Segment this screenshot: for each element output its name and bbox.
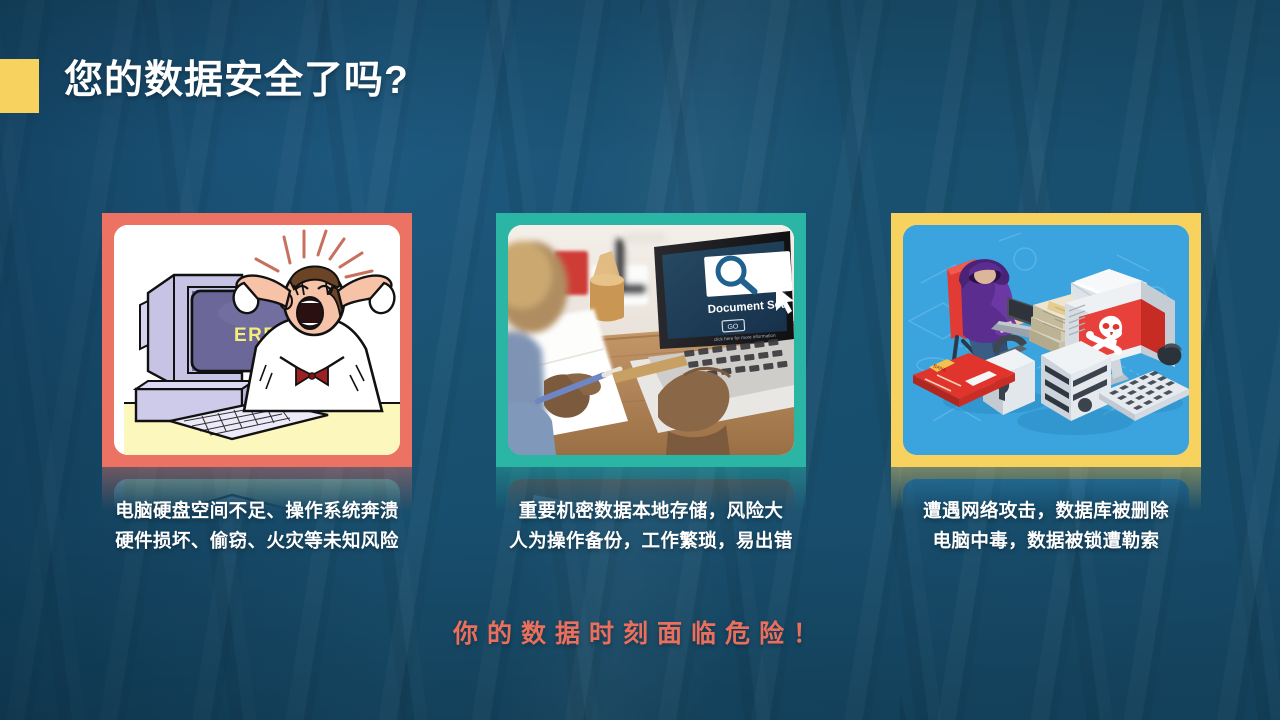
image-inner: Document Sea GO click here for more info… [508, 225, 794, 455]
card-caption-line2: 人为操作备份，工作繁琐，易出错 [481, 526, 821, 556]
photo-person-at-desk-with-laptop-document-search-illustration: Document Sea GO click here for more info… [508, 225, 794, 455]
card-caption: 遭遇网络攻击，数据库被删除 电脑中毒，数据被锁遭勒索 [876, 496, 1216, 556]
card-caption-line1: 电脑硬盘空间不足、操作系统奔溃 [87, 496, 427, 526]
risk-card-list: ERRoR [0, 213, 1280, 573]
image-frame: Document Sea GO click here for more info… [496, 213, 806, 467]
card-caption: 电脑硬盘空间不足、操作系统奔溃 硬件损坏、偷窃、火灾等未知风险 [87, 496, 427, 556]
risk-card: BANK [891, 213, 1201, 467]
slide-canvas: 您的数据安全了吗? [0, 0, 1280, 720]
isometric-hacker-cybercrime-illustration: BANK [903, 225, 1189, 455]
card-caption: 重要机密数据本地存储，风险大 人为操作备份，工作繁琐，易出错 [481, 496, 821, 556]
risk-card: Document Sea GO click here for more info… [496, 213, 806, 467]
title-accent-block [0, 59, 39, 113]
card-caption-line2: 硬件损坏、偷窃、火灾等未知风险 [87, 526, 427, 556]
image-frame: BANK [891, 213, 1201, 467]
risk-card: ERRoR [102, 213, 412, 467]
card-caption-line2: 电脑中毒，数据被锁遭勒索 [876, 526, 1216, 556]
card-caption-line1: 遭遇网络攻击，数据库被删除 [876, 496, 1216, 526]
footer-warning-text: 你的数据时刻面临危险！ [0, 614, 1280, 650]
image-frame: ERRoR [102, 213, 412, 467]
card-caption-line1: 重要机密数据本地存储，风险大 [481, 496, 821, 526]
svg-text:GO: GO [727, 323, 739, 331]
page-title: 您的数据安全了吗? [64, 57, 409, 105]
image-inner: ERRoR [114, 225, 400, 455]
cartoon-man-screaming-at-error-computer-illustration: ERRoR [114, 225, 400, 455]
image-inner: BANK [903, 225, 1189, 455]
